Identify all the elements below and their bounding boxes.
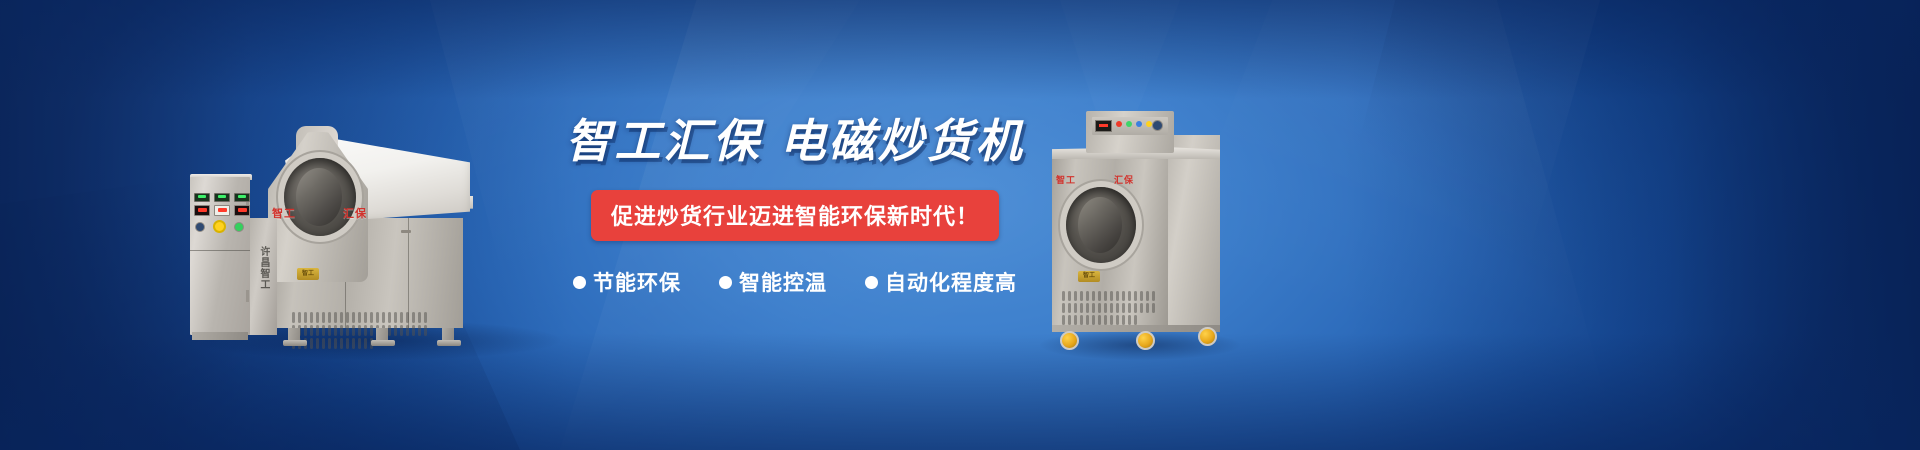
machine-left-temp-controller (194, 205, 210, 216)
bullet-dot-icon (719, 276, 732, 289)
machine-left-readout (214, 193, 230, 202)
feature-item-energy-saving: 节能环保 (573, 267, 681, 297)
machine-right-selector-knob (1152, 120, 1163, 131)
machine-left-drum-interior (296, 168, 342, 226)
machine-right-base-frame (1052, 325, 1220, 332)
bullet-dot-icon (865, 276, 878, 289)
machine-left-cabinet-base (192, 332, 248, 340)
machine-left-door-handle (401, 230, 411, 233)
machine-left-start-button (234, 222, 244, 232)
machine-left-column-text: 许昌智工 (252, 246, 270, 290)
machine-left-readout (234, 193, 250, 202)
banner-title: 智工汇保电磁炒货机 (560, 118, 1030, 164)
machine-left-emergency-stop (213, 220, 226, 233)
feature-item-smart-temperature: 智能控温 (719, 267, 827, 297)
machine-left-nameplate: 智工 (297, 268, 319, 280)
feature-label: 智能控温 (739, 267, 827, 297)
machine-right-drum-interior (1078, 197, 1122, 253)
machine-left-digital-readouts (194, 193, 250, 202)
machine-right-caster-wheel (1060, 331, 1079, 350)
banner-text-block: 智工汇保电磁炒货机 促进炒货行业迈进智能环保新时代！ 节能环保 智能控温 自动化… (560, 118, 1030, 297)
machine-left-foot (437, 340, 461, 346)
machine-left-selector-knob (195, 222, 205, 232)
machine-left-panel-controls (195, 220, 244, 233)
machine-right-caster-wheel (1136, 331, 1155, 350)
promo-banner: 智工 汇保 智工 许昌智工 (0, 0, 1920, 450)
indicator-light-green (1126, 121, 1132, 127)
machine-right-side-panel (1168, 135, 1220, 327)
machine-right-brand-left: 智工 (1056, 173, 1076, 186)
machine-left-image: 智工 汇保 智工 许昌智工 (180, 100, 555, 345)
machine-left-readout (194, 193, 210, 202)
machine-right-drum-opening (1066, 187, 1136, 263)
machine-right-vent-louvers (1062, 291, 1158, 317)
feature-label: 自动化程度高 (885, 267, 1017, 297)
machine-left-cabinet-hinge (246, 290, 249, 302)
machine-left-temp-controller (214, 205, 230, 216)
machine-right-brand-right: 汇保 (1114, 173, 1134, 186)
machine-left-cabinet-seam (190, 250, 250, 251)
machine-left-vent-louvers (292, 312, 432, 340)
banner-title-product: 电磁炒货机 (780, 115, 1025, 167)
banner-feature-list: 节能环保 智能控温 自动化程度高 (560, 267, 1030, 297)
feature-item-automation: 自动化程度高 (865, 267, 1017, 297)
indicator-light-red (1116, 121, 1122, 127)
machine-left-temp-controller (234, 205, 250, 216)
machine-right-display (1095, 120, 1112, 132)
machine-left-temp-controllers (194, 205, 250, 216)
machine-right-image: 智工 汇保 智工 (1040, 95, 1235, 355)
banner-title-brand: 智工汇保 (566, 115, 762, 167)
banner-subtitle-badge: 促进炒货行业迈进智能环保新时代！ (591, 190, 999, 241)
machine-right-indicator-lights (1116, 121, 1152, 127)
bullet-dot-icon (573, 276, 586, 289)
feature-label: 节能环保 (593, 267, 681, 297)
machine-right-nameplate: 智工 (1078, 271, 1100, 282)
banner-subtitle-wrapper: 促进炒货行业迈进智能环保新时代！ (560, 190, 1030, 241)
machine-left-brand-right: 汇保 (343, 205, 367, 221)
machine-left-foot (371, 340, 395, 346)
indicator-light-blue (1136, 121, 1142, 127)
machine-left-control-panel (194, 193, 246, 241)
machine-left-foot (283, 340, 307, 346)
machine-left-drum-opening (284, 158, 356, 236)
machine-right-caster-wheel (1198, 327, 1217, 346)
